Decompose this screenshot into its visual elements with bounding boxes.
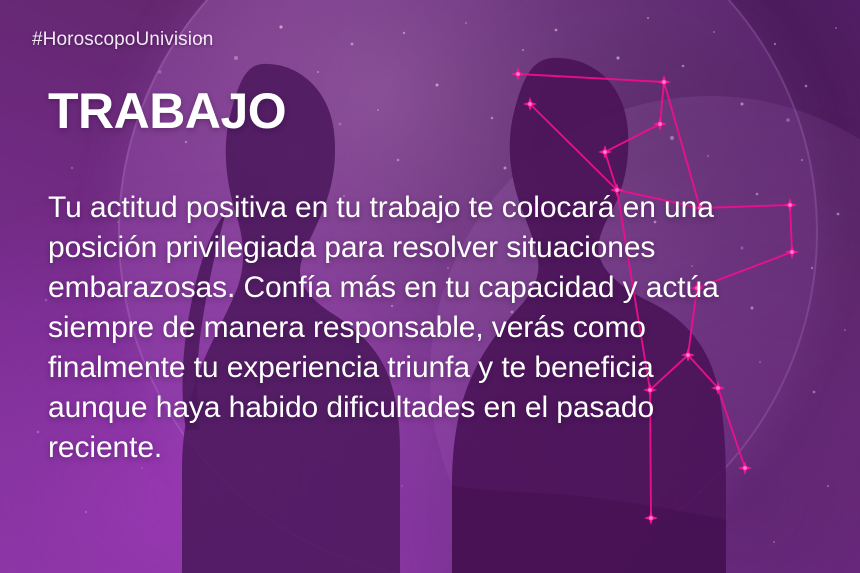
horoscope-card: #HoroscopoUnivision TRABAJO Tu actitud p… [0,0,860,573]
text-content: #HoroscopoUnivision TRABAJO Tu actitud p… [0,0,860,573]
page-title: TRABAJO [48,86,286,136]
hashtag-label: #HoroscopoUnivision [32,29,213,51]
horoscope-body-text: Tu actitud positiva en tu trabajo te col… [48,188,748,468]
